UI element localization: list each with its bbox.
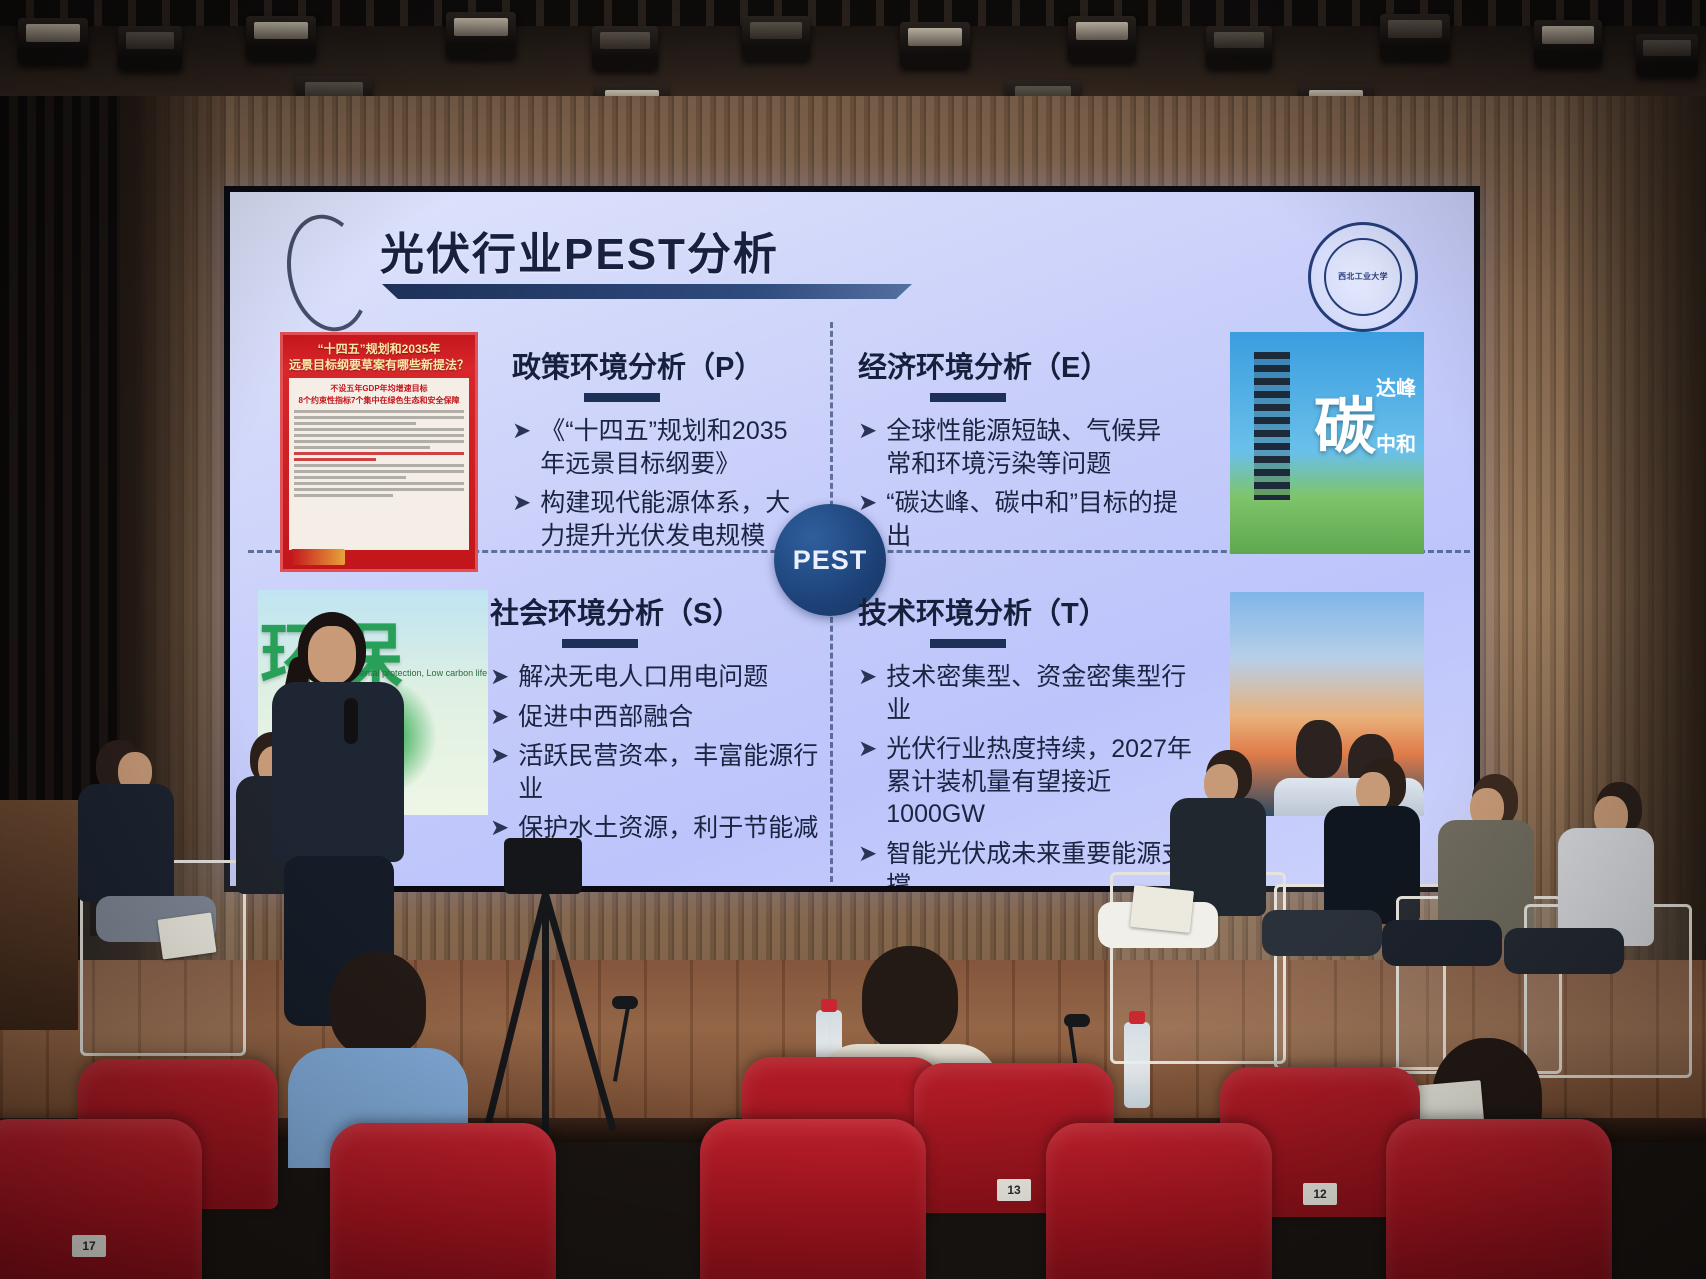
score-sheet (1130, 885, 1194, 933)
stage-light (246, 16, 316, 60)
bullet-arrow-icon: ➤ (858, 838, 877, 869)
quadrant-bullet-list: ➤全球性能源短缺、气候异常和环境污染等问题 ➤“碳达峰、碳中和”目标的提出 (858, 415, 1178, 552)
person-legs (1382, 920, 1502, 966)
quadrant-heading: 社会环境分析（S） (490, 590, 820, 632)
title-ring-decoration (277, 207, 380, 339)
person-legs (1504, 928, 1624, 974)
bullet-arrow-icon: ➤ (858, 661, 877, 692)
audience-head (330, 952, 426, 1056)
heading-underline (584, 393, 660, 402)
quadrant-heading: 经济环境分析（E） (858, 344, 1178, 386)
bullet-arrow-icon: ➤ (490, 740, 509, 771)
quadrant-heading: 技术环境分析（T） (858, 590, 1208, 632)
stage-light (446, 12, 516, 58)
poster-text-lines (294, 410, 464, 497)
seat-number-label: 13 (997, 1179, 1031, 1201)
bullet-item: ➤活跃民营资本，丰富能源行业 (490, 740, 820, 805)
poster-body: 不设五年GDP年均增速目标 8个约束性指标7个集中在绿色生态和安全保障 (289, 378, 469, 550)
bullet-arrow-icon: ➤ (858, 487, 877, 518)
stage-light (592, 26, 658, 70)
heading-underline (930, 639, 1006, 648)
tower-silhouette (1254, 352, 1290, 500)
stage-light (1206, 26, 1272, 68)
bullet-item: ➤促进中西部融合 (490, 701, 820, 734)
bullet-item: ➤技术密集型、资金密集型行业 (858, 661, 1208, 726)
audience-head (862, 946, 958, 1050)
seat-number-label: 12 (1303, 1183, 1337, 1205)
seated-judge-4 (1500, 778, 1700, 1046)
bullet-arrow-icon: ➤ (512, 487, 531, 518)
poster-red-line-1: 不设五年GDP年均增速目标 (294, 383, 464, 394)
bullet-text: 活跃民营资本，丰富能源行业 (518, 740, 820, 805)
heading-underline (930, 393, 1006, 402)
five-year-plan-poster-image: “十四五”规划和2035年 远景目标纲要草案有哪些新提法？ 不设五年GDP年均增… (280, 332, 478, 572)
quadrant-economic: 经济环境分析（E） ➤全球性能源短缺、气候异常和环境污染等问题 ➤“碳达峰、碳中… (858, 344, 1178, 559)
quadrant-heading: 政策环境分析（P） (512, 344, 802, 386)
bullet-arrow-icon: ➤ (490, 661, 509, 692)
title-underline-bar (382, 284, 912, 299)
stage-light (1636, 34, 1698, 76)
audience-seat-row: 15 14 13 12 17 (0, 1049, 1706, 1279)
audience-seat-front[interactable]: 17 (0, 1119, 202, 1279)
bullet-arrow-icon: ➤ (858, 415, 877, 446)
carbon-peak-poster-image: 碳 达峰 中和 (1230, 332, 1424, 554)
bullet-text: 《“十四五”规划和2035年远景目标纲要》 (540, 415, 802, 480)
person-torso (78, 784, 174, 902)
stage-light (18, 18, 88, 64)
bullet-text: 全球性能源短缺、气候异常和环境污染等问题 (886, 415, 1178, 480)
bullet-item: ➤“碳达峰、碳中和”目标的提出 (858, 487, 1178, 552)
heading-underline (562, 639, 638, 648)
microphone-handheld (344, 698, 358, 744)
university-logo-inner-text: 西北工业大学 (1324, 238, 1402, 316)
poster-subheadline: 远景目标纲要草案有哪些新提法？ (289, 357, 469, 373)
poster-seal-icon (291, 549, 345, 565)
stage-light (900, 22, 970, 68)
desk-microphone-head (1064, 1014, 1090, 1027)
bullet-text: 解决无电人口用电问题 (518, 661, 820, 694)
bullet-item: ➤《“十四五”规划和2035年远景目标纲要》 (512, 415, 802, 480)
bullet-text: “碳达峰、碳中和”目标的提出 (886, 487, 1178, 552)
bullet-item: ➤构建现代能源体系，大力提升光伏发电规模 (512, 487, 802, 552)
university-logo-icon: 西北工业大学 (1308, 222, 1418, 332)
carbon-char-main: 碳 (1314, 376, 1376, 466)
poster-red-line-2: 8个约束性指标7个集中在绿色生态和安全保障 (294, 395, 464, 406)
bullet-text: 促进中西部融合 (518, 701, 820, 734)
video-camera (504, 838, 582, 894)
bullet-text: 技术密集型、资金密集型行业 (886, 661, 1208, 726)
presenter-torso (272, 682, 404, 862)
audience-seat-front[interactable] (1046, 1123, 1272, 1279)
bullet-arrow-icon: ➤ (512, 415, 531, 446)
lectern (0, 800, 78, 1030)
audience-seat-front[interactable] (1386, 1119, 1612, 1279)
bullet-item: ➤全球性能源短缺、气候异常和环境污染等问题 (858, 415, 1178, 480)
stage-light (1068, 16, 1136, 62)
stage-light (742, 16, 810, 60)
stage-light (1534, 20, 1602, 66)
slide-title: 光伏行业PEST分析 (380, 218, 779, 282)
bullet-text: 构建现代能源体系，大力提升光伏发电规模 (540, 487, 802, 552)
stage-light (118, 26, 182, 70)
carbon-char-bottom: 中和 (1376, 428, 1416, 457)
presenter-face (308, 626, 356, 684)
stage-light (1380, 14, 1450, 60)
audience-seat-front[interactable] (330, 1123, 556, 1279)
bullet-arrow-icon: ➤ (858, 733, 877, 764)
audience-seat-front[interactable] (700, 1119, 926, 1279)
quadrant-political: 政策环境分析（P） ➤《“十四五”规划和2035年远景目标纲要》 ➤构建现代能源… (512, 344, 802, 559)
poster-headline: “十四五”规划和2035年 (289, 341, 469, 357)
person-legs (1262, 910, 1382, 956)
bullet-item: ➤解决无电人口用电问题 (490, 661, 820, 694)
quadrant-bullet-list: ➤《“十四五”规划和2035年远景目标纲要》 ➤构建现代能源体系，大力提升光伏发… (512, 415, 802, 552)
desk-microphone-head (612, 996, 638, 1009)
seat-number-label: 17 (72, 1235, 106, 1257)
carbon-char-top: 达峰 (1376, 372, 1416, 401)
auditorium-scene: 光伏行业PEST分析 西北工业大学 PEST “十四五”规划和2035年 远景目… (0, 0, 1706, 1279)
bullet-arrow-icon: ➤ (490, 701, 509, 732)
score-sheet (157, 912, 216, 959)
